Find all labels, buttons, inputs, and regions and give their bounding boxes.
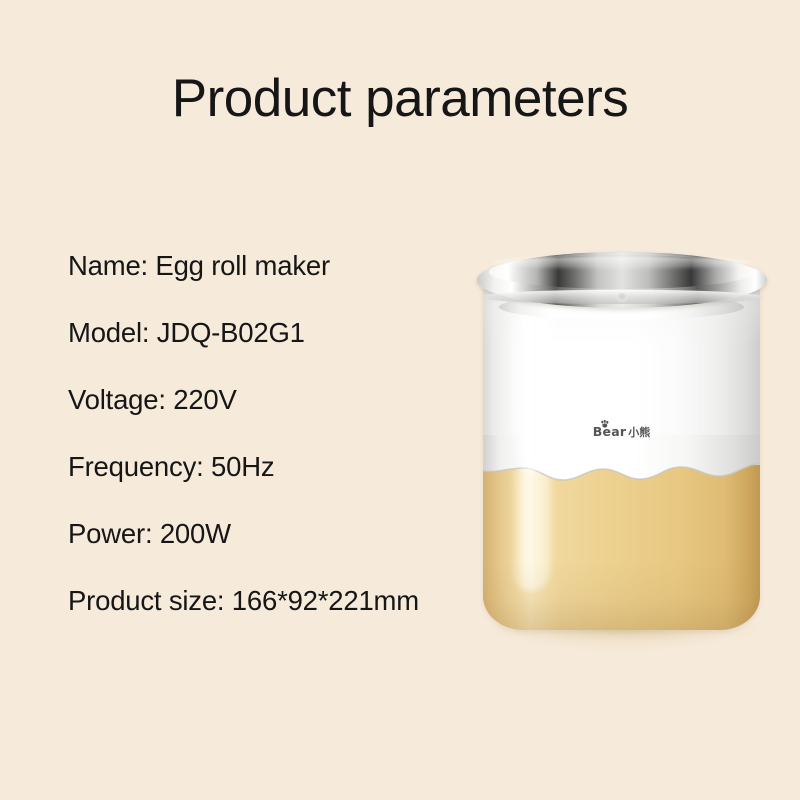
spec-text: Frequency: 50Hz — [68, 453, 274, 481]
spec-row-power: Power: 200W — [68, 520, 468, 587]
brand-name: Bear — [593, 424, 626, 439]
product-body: Bear 小熊 — [483, 275, 760, 630]
spec-text: Power: 200W — [68, 520, 231, 548]
spec-row-voltage: Voltage: 220V — [68, 386, 468, 453]
page-title: Product parameters — [0, 68, 800, 129]
lid-indicator-icon — [616, 293, 628, 302]
spec-row-name: Name: Egg roll maker — [68, 252, 468, 319]
brand-name-cn: 小熊 — [628, 424, 650, 440]
spec-row-model: Model: JDQ-B02G1 — [68, 319, 468, 386]
product-lower-shading — [483, 560, 760, 630]
specifications-list: Name: Egg roll maker Model: JDQ-B02G1 Vo… — [68, 252, 468, 654]
product-image: Bear 小熊 — [455, 240, 790, 680]
spec-row-frequency: Frequency: 50Hz — [68, 453, 468, 520]
product-lid — [477, 252, 767, 308]
spec-text: Name: Egg roll maker — [68, 252, 330, 280]
product-parameters-page: Product parameters Name: Egg roll maker … — [0, 0, 800, 800]
lid-sheen — [493, 256, 751, 269]
bear-paw-icon — [600, 420, 609, 428]
brand-logo: Bear 小熊 — [593, 423, 650, 441]
product-lower-shell — [483, 465, 760, 630]
spec-text: Voltage: 220V — [68, 386, 237, 414]
spec-row-product-size: Product size: 166*92*221mm — [68, 587, 468, 654]
spec-text: Product size: 166*92*221mm — [68, 587, 419, 615]
spec-text: Model: JDQ-B02G1 — [68, 319, 305, 347]
